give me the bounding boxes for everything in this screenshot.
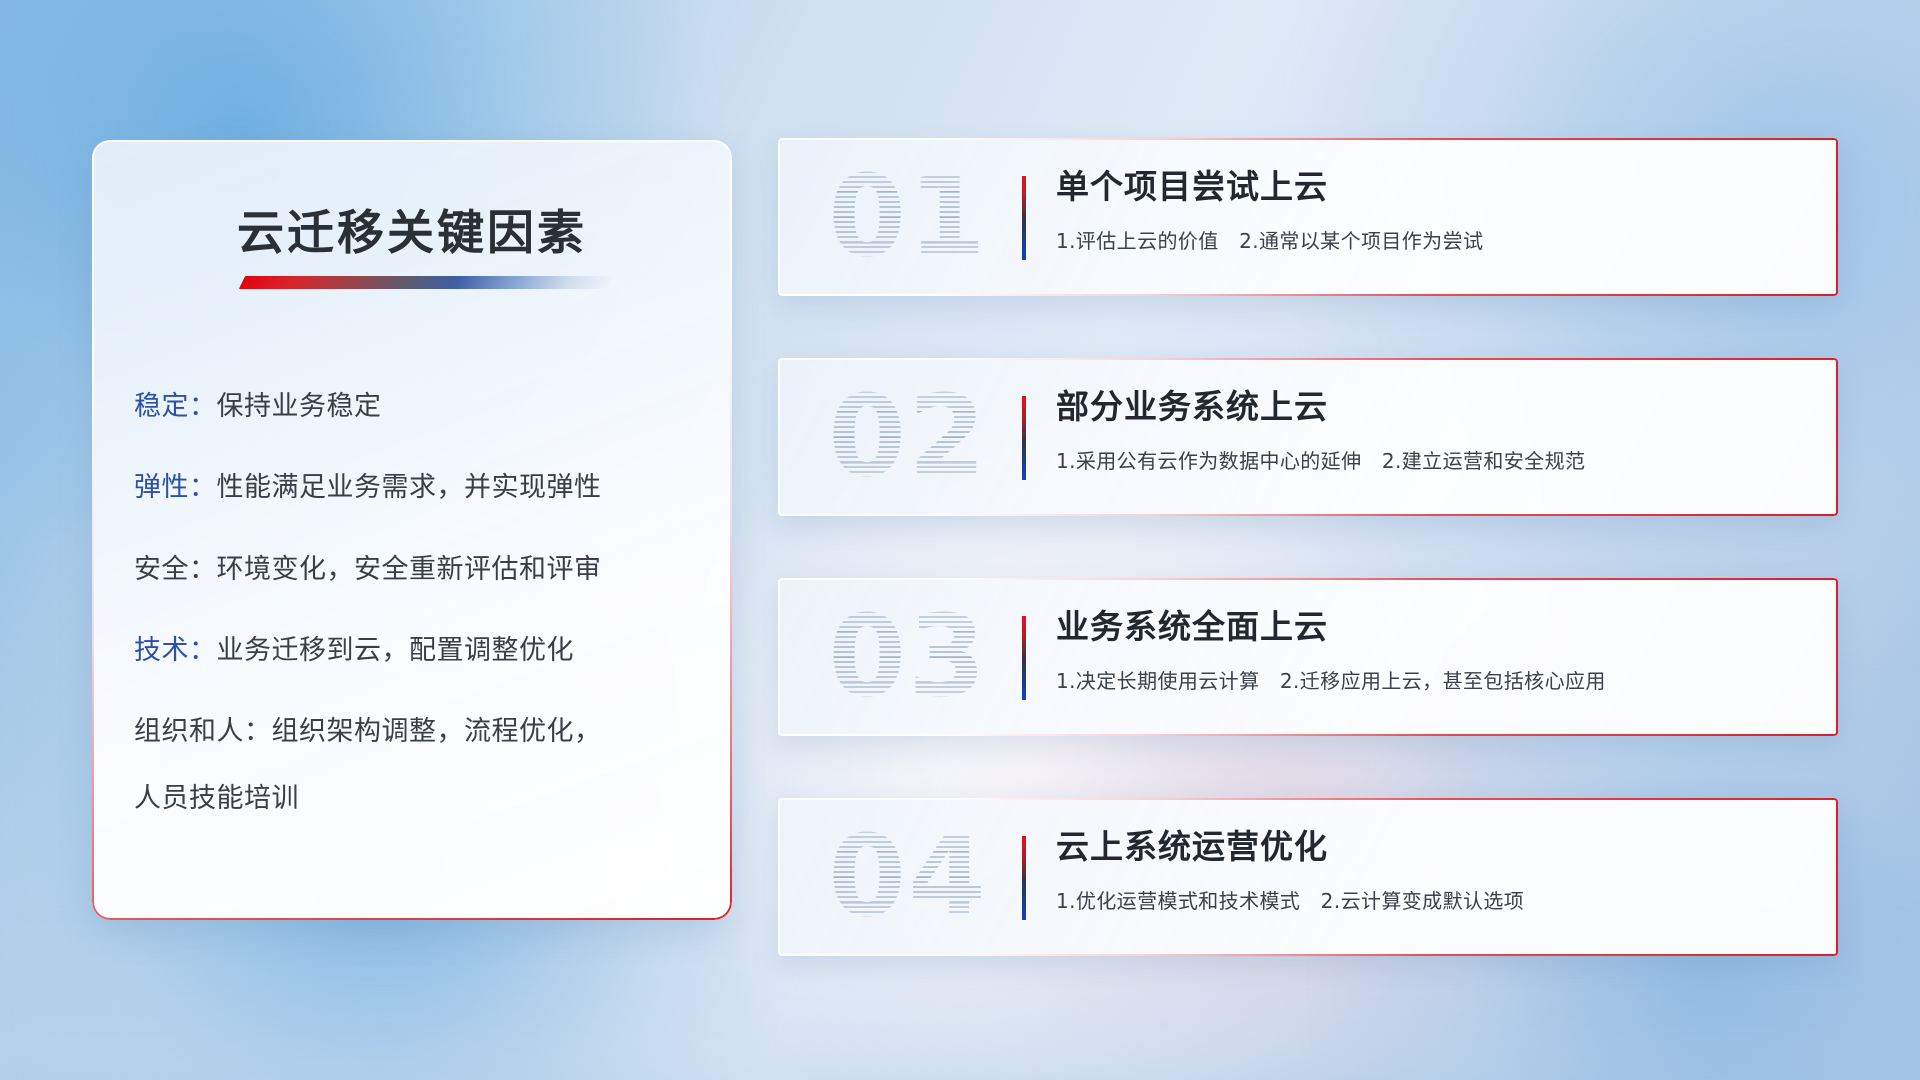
stage-title: 部分业务系统上云	[1056, 386, 1802, 427]
stage-card[interactable]: 02 02 部分业务系统上云 1.采用公有云作为数据中心的延伸 2.建立运营和安…	[778, 358, 1838, 516]
factor-text-continuation: 人员技能培训	[134, 780, 696, 817]
list-item: 弹性：性能满足业务需求，并实现弹性	[134, 469, 696, 506]
title-underline-accent	[239, 276, 615, 289]
stage-number: 01	[818, 156, 998, 278]
page-title: 云迁移关键因素	[92, 194, 732, 263]
list-item: 稳定：保持业务稳定	[134, 388, 696, 425]
list-item: 技术：业务迁移到云，配置调整优化	[134, 632, 696, 669]
stage-title: 云上系统运营优化	[1056, 826, 1802, 867]
factor-text: 环境变化，安全重新评估和评审	[217, 554, 602, 585]
factor-text: 组织架构调整，流程优化，	[272, 716, 602, 747]
factor-label: 组织和人：	[134, 716, 272, 747]
list-item: 组织和人：组织架构调整，流程优化， 人员技能培训	[134, 713, 696, 818]
stage-card-list: 01 01 单个项目尝试上云 1.评估上云的价值 2.通常以某个项目作为尝试 0…	[778, 138, 1838, 956]
stage-number: 04	[818, 816, 998, 938]
stage-divider-bar	[1022, 396, 1026, 480]
stage-card-body: 单个项目尝试上云 1.评估上云的价值 2.通常以某个项目作为尝试	[1056, 166, 1802, 254]
factor-label: 安全：	[134, 554, 217, 585]
stage-title: 业务系统全面上云	[1056, 606, 1802, 647]
stage-description: 1.评估上云的价值 2.通常以某个项目作为尝试	[1056, 225, 1802, 254]
factor-list: 稳定：保持业务稳定 弹性：性能满足业务需求，并实现弹性 安全：环境变化，安全重新…	[134, 388, 696, 818]
stage-card[interactable]: 04 04 云上系统运营优化 1.优化运营模式和技术模式 2.云计算变成默认选项	[778, 798, 1838, 956]
stage-number: 02	[818, 376, 998, 498]
stage-divider-bar	[1022, 176, 1026, 260]
factor-text: 性能满足业务需求，并实现弹性	[217, 472, 602, 503]
stage-number: 03	[818, 596, 998, 718]
stage-card[interactable]: 03 03 业务系统全面上云 1.决定长期使用云计算 2.迁移应用上云，甚至包括…	[778, 578, 1838, 736]
stage-card-body: 业务系统全面上云 1.决定长期使用云计算 2.迁移应用上云，甚至包括核心应用	[1056, 606, 1802, 694]
factor-text: 保持业务稳定	[217, 391, 382, 422]
stage-description: 1.采用公有云作为数据中心的延伸 2.建立运营和安全规范	[1056, 445, 1802, 474]
stage-description: 1.决定长期使用云计算 2.迁移应用上云，甚至包括核心应用	[1056, 665, 1802, 694]
stage-divider-bar	[1022, 836, 1026, 920]
key-factors-panel: 云迁移关键因素 稳定：保持业务稳定 弹性：性能满足业务需求，并实现弹性 安全：环…	[92, 140, 732, 920]
factor-text: 业务迁移到云，配置调整优化	[217, 635, 575, 666]
stage-description: 1.优化运营模式和技术模式 2.云计算变成默认选项	[1056, 885, 1802, 914]
stage-card[interactable]: 01 01 单个项目尝试上云 1.评估上云的价值 2.通常以某个项目作为尝试	[778, 138, 1838, 296]
list-item: 安全：环境变化，安全重新评估和评审	[134, 551, 696, 588]
factor-label: 技术：	[134, 635, 217, 666]
slide-stage: 云迁移关键因素 稳定：保持业务稳定 弹性：性能满足业务需求，并实现弹性 安全：环…	[0, 0, 1920, 1080]
factor-label: 稳定：	[134, 391, 217, 422]
stage-card-body: 部分业务系统上云 1.采用公有云作为数据中心的延伸 2.建立运营和安全规范	[1056, 386, 1802, 474]
factor-label: 弹性：	[134, 472, 217, 503]
stage-divider-bar	[1022, 616, 1026, 700]
stage-title: 单个项目尝试上云	[1056, 166, 1802, 207]
stage-card-body: 云上系统运营优化 1.优化运营模式和技术模式 2.云计算变成默认选项	[1056, 826, 1802, 914]
